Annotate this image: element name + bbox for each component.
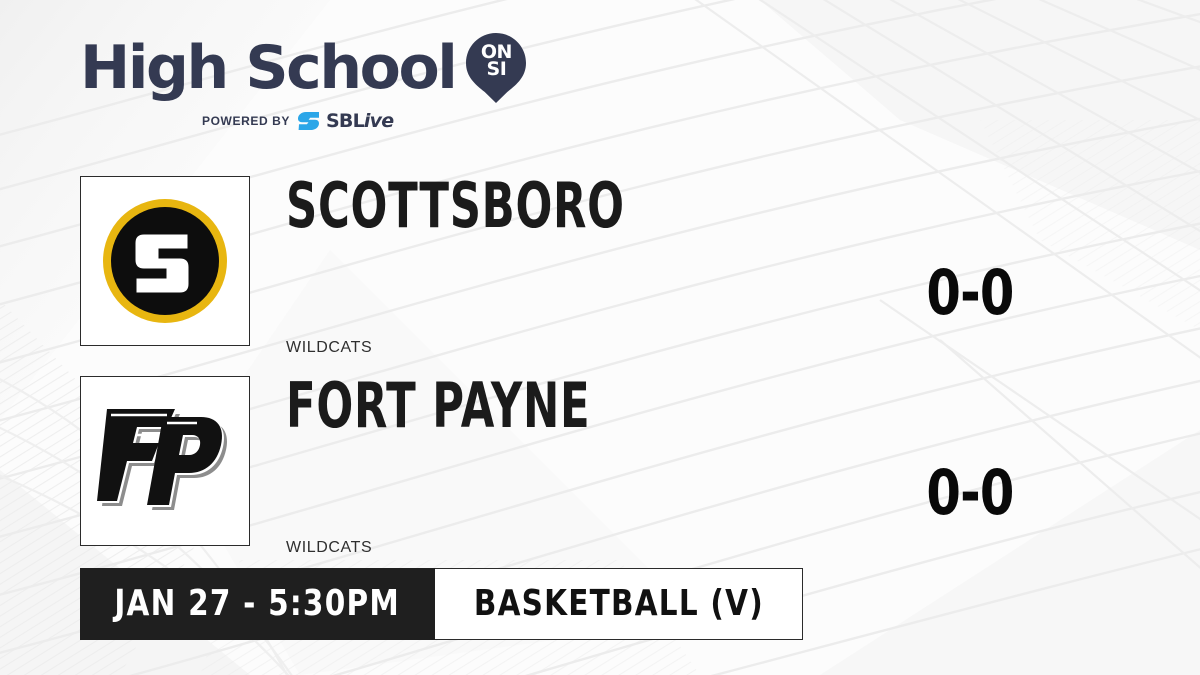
sblive-bolt-icon xyxy=(298,112,320,130)
event-sport-panel: BASKETBALL (V) xyxy=(435,568,803,640)
matchup-graphic: High School ON SI POWERED BY SBLive xyxy=(0,0,1200,675)
team-name-scottsboro: SCOTTSBORO xyxy=(286,175,625,237)
location-pin-icon: ON SI xyxy=(465,32,527,104)
event-sport-label: BASKETBALL (V) xyxy=(473,585,763,623)
sblive-italic-part: ive xyxy=(364,110,393,132)
powered-by-row: POWERED BY SBLive xyxy=(202,110,510,132)
sblive-bold-part: SBL xyxy=(326,110,364,132)
fort-payne-fp-logo xyxy=(95,399,235,523)
event-datetime-label: JAN 27 - 5:30PM xyxy=(115,585,401,623)
team-mascot-scottsboro: WILDCATS xyxy=(286,339,372,357)
powered-by-label: POWERED BY xyxy=(202,114,290,128)
pin-label: ON SI xyxy=(465,44,527,78)
team-record-scottsboro: 0-0 xyxy=(890,262,1050,324)
sblive-wordmark: SBLive xyxy=(326,110,393,132)
team-logo-tile-scottsboro xyxy=(80,176,250,346)
team-record-fort-payne: 0-0 xyxy=(890,462,1050,524)
brand-wordmark: High School xyxy=(80,37,455,99)
team-logo-tile-fort-payne xyxy=(80,376,250,546)
team-mascot-fort-payne: WILDCATS xyxy=(286,539,372,557)
high-school-on-si-logo: High School ON SI POWERED BY SBLive xyxy=(80,32,510,136)
team-name-fort-payne: FORT PAYNE xyxy=(286,375,590,437)
event-info-bar: JAN 27 - 5:30PM BASKETBALL (V) xyxy=(80,568,803,640)
event-datetime-panel: JAN 27 - 5:30PM xyxy=(80,568,435,640)
pin-line-si: SI xyxy=(487,58,507,80)
scottsboro-s-logo xyxy=(100,196,230,326)
